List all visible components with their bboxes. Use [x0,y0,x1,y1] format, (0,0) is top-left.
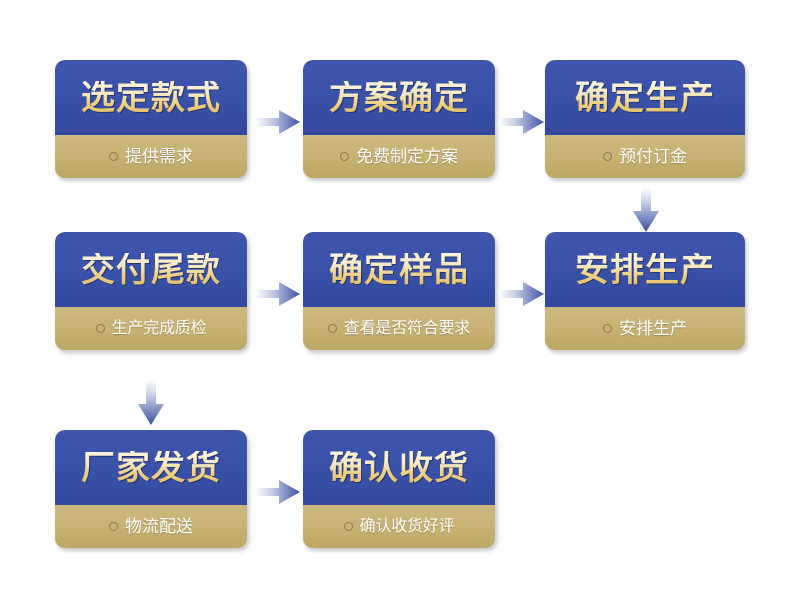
flow-node-4-subtitle: 生产完成质检 [112,321,207,337]
flow-node-1[interactable]: 选定款式 提供需求 [55,60,247,178]
flow-node-5-subtitle: 查看是否符合要求 [344,321,470,337]
flow-node-7-body: 物流配送 [55,505,247,548]
flow-node-1-subtitle: 提供需求 [125,148,193,165]
arrow-down-n4-n7 [136,380,166,426]
flow-node-4-body: 生产完成质检 [55,307,247,350]
flow-node-6-body: 安排生产 [545,307,745,350]
flow-node-8-subtitle: 确认收货好评 [360,519,455,535]
circle-bullet-icon [96,324,105,333]
flow-node-7-subtitle: 物流配送 [125,518,193,535]
circle-bullet-icon [340,152,349,161]
circle-bullet-icon [109,152,118,161]
flow-node-3-body: 预付订金 [545,135,745,178]
flow-node-1-header: 选定款式 [55,60,247,135]
flowchart-canvas: 选定款式 提供需求 方案确定 免费制定方案 [0,0,790,594]
arrow-right-n5-n4 [255,280,301,308]
arrow-right-n2-n3 [499,108,545,136]
flow-node-4-header: 交付尾款 [55,232,247,307]
flow-node-3-subtitle: 预付订金 [619,148,687,165]
arrow-right-n7-n8 [255,478,301,506]
flow-node-8[interactable]: 确认收货 确认收货好评 [303,430,495,548]
flow-node-1-body: 提供需求 [55,135,247,178]
arrow-right-n1-n2 [255,108,301,136]
flow-node-6-title: 安排生产 [575,253,715,287]
flow-node-8-header: 确认收货 [303,430,495,505]
circle-bullet-icon [109,522,118,531]
flow-node-5[interactable]: 确定样品 查看是否符合要求 [303,232,495,350]
circle-bullet-icon [328,324,337,333]
flow-node-2-title: 方案确定 [329,81,469,115]
flow-node-3-title: 确定生产 [575,81,715,115]
flow-node-6-subtitle: 安排生产 [619,320,687,337]
flow-node-7-header: 厂家发货 [55,430,247,505]
arrow-right-n6-n5 [499,280,545,308]
circle-bullet-icon [344,522,353,531]
flow-node-6[interactable]: 安排生产 安排生产 [545,232,745,350]
flow-node-4-title: 交付尾款 [81,253,221,287]
flow-node-8-body: 确认收货好评 [303,505,495,548]
flow-node-5-header: 确定样品 [303,232,495,307]
flow-node-2-header: 方案确定 [303,60,495,135]
circle-bullet-icon [603,324,612,333]
flow-node-2-subtitle: 免费制定方案 [356,148,458,165]
flow-node-5-title: 确定样品 [329,253,469,287]
flow-node-6-header: 安排生产 [545,232,745,307]
flow-node-1-title: 选定款式 [81,81,221,115]
flow-node-3-header: 确定生产 [545,60,745,135]
flow-node-3[interactable]: 确定生产 预付订金 [545,60,745,178]
arrow-down-n3-n6 [631,187,661,233]
flow-node-2[interactable]: 方案确定 免费制定方案 [303,60,495,178]
flow-node-5-body: 查看是否符合要求 [303,307,495,350]
flow-node-4[interactable]: 交付尾款 生产完成质检 [55,232,247,350]
flow-node-7[interactable]: 厂家发货 物流配送 [55,430,247,548]
flow-node-7-title: 厂家发货 [81,451,221,485]
circle-bullet-icon [603,152,612,161]
flow-node-8-title: 确认收货 [329,451,469,485]
flow-node-2-body: 免费制定方案 [303,135,495,178]
